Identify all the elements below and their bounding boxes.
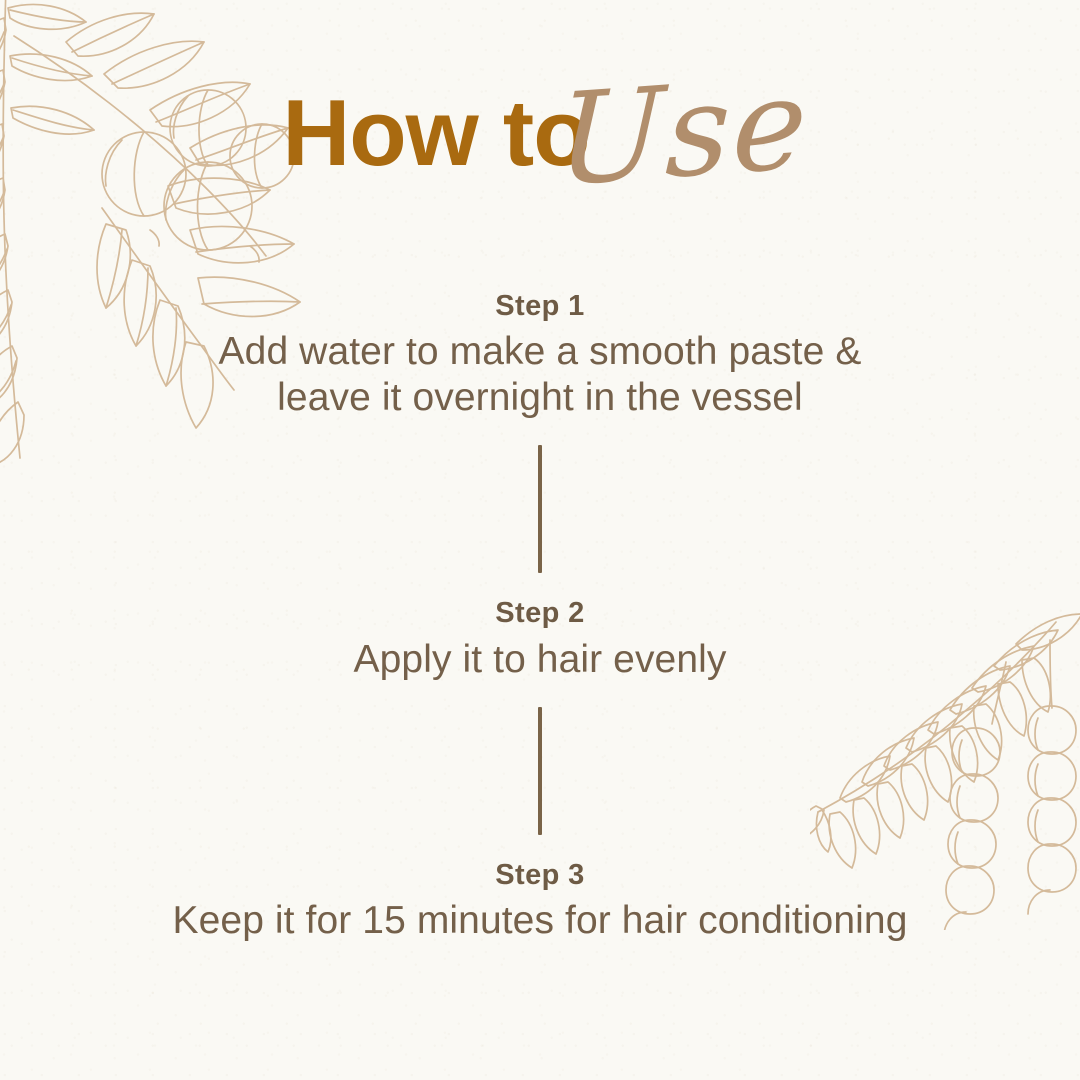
header: How to Use	[0, 86, 1080, 276]
step-3-text: Keep it for 15 minutes for hair conditio…	[0, 898, 1080, 944]
connector-line	[538, 707, 542, 835]
poster-canvas: How to Use Step 1 Add water to make a sm…	[0, 0, 1080, 1080]
page-title-how-to: How to	[0, 86, 976, 180]
step-2-block: Step 2 Apply it to hair evenly	[0, 595, 1080, 682]
page-title-use-script: Use	[556, 60, 811, 204]
step-1-block: Step 1 Add water to make a smooth paste …	[0, 288, 1080, 421]
steps-list: Step 1 Add water to make a smooth paste …	[0, 288, 1080, 944]
step-connector-1	[0, 421, 1080, 595]
step-3-label: Step 3	[0, 857, 1080, 893]
connector-line	[538, 445, 542, 573]
step-connector-2	[0, 683, 1080, 857]
step-1-label: Step 1	[0, 288, 1080, 324]
step-3-block: Step 3 Keep it for 15 minutes for hair c…	[0, 857, 1080, 944]
step-2-label: Step 2	[0, 595, 1080, 631]
step-1-text: Add water to make a smooth paste & leave…	[0, 329, 1080, 421]
step-2-text: Apply it to hair evenly	[0, 637, 1080, 683]
